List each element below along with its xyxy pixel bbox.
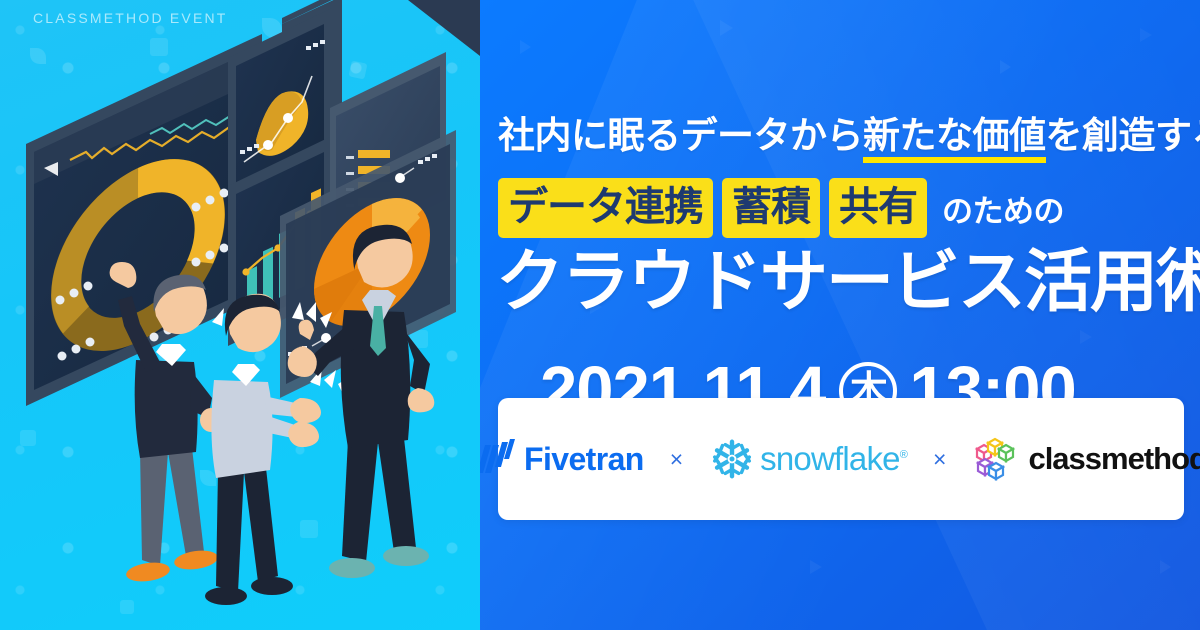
logo-classmethod: classmethod <box>972 435 1200 483</box>
logo-separator-2: × <box>933 446 946 473</box>
keyword-badge-3: 共有 <box>829 178 927 238</box>
logo-separator-1: × <box>670 446 683 473</box>
headline-line1-highlight: 新たな価値 <box>863 115 1046 163</box>
sponsor-logo-bar: Fivetran × <box>498 398 1184 520</box>
logo-fivetran: Fivetran <box>480 437 644 481</box>
event-banner: CLASSMETHOD EVENT 社内に眠るデータから新たな価値を創造する！ … <box>0 0 1200 630</box>
headline-line-3: クラウドサービス活用術 <box>496 246 1200 319</box>
keyword-badges-row: データ連携 蓄積 共有 のための <box>498 178 1198 238</box>
keyword-badge-2: 蓄積 <box>722 178 820 238</box>
fivetran-bars-icon <box>480 437 515 481</box>
snowflake-wordmark-text: snowflake <box>760 440 900 477</box>
headline-line1-mid: データから <box>681 115 864 156</box>
badge-suffix-text: のための <box>942 186 1064 231</box>
classmethod-cubes-icon <box>972 435 1020 483</box>
fivetran-wordmark: Fivetran <box>524 441 644 478</box>
headline-line1-tail: を創造する！ <box>1046 115 1200 156</box>
left-illustration-panel: CLASSMETHOD EVENT <box>0 0 480 630</box>
headline-line-1: 社内に眠るデータから新たな価値を創造する！ <box>498 105 1188 159</box>
isometric-dashboard-illustration <box>0 0 480 630</box>
keyword-badge-1: データ連携 <box>498 178 713 238</box>
snowflake-icon <box>709 436 755 482</box>
headline-line1-lead: 社内に眠る <box>498 115 681 156</box>
snowflake-wordmark: snowflake® <box>760 440 907 478</box>
headline-content: 社内に眠るデータから新たな価値を創造する！ データ連携 蓄積 共有 のための ク… <box>480 0 1200 630</box>
brand-label: CLASSMETHOD EVENT <box>33 10 228 26</box>
snowflake-trademark: ® <box>900 449 907 461</box>
classmethod-wordmark: classmethod <box>1028 441 1200 477</box>
logo-snowflake: snowflake® <box>709 436 907 482</box>
right-content-panel: 社内に眠るデータから新たな価値を創造する！ データ連携 蓄積 共有 のための ク… <box>480 0 1200 630</box>
